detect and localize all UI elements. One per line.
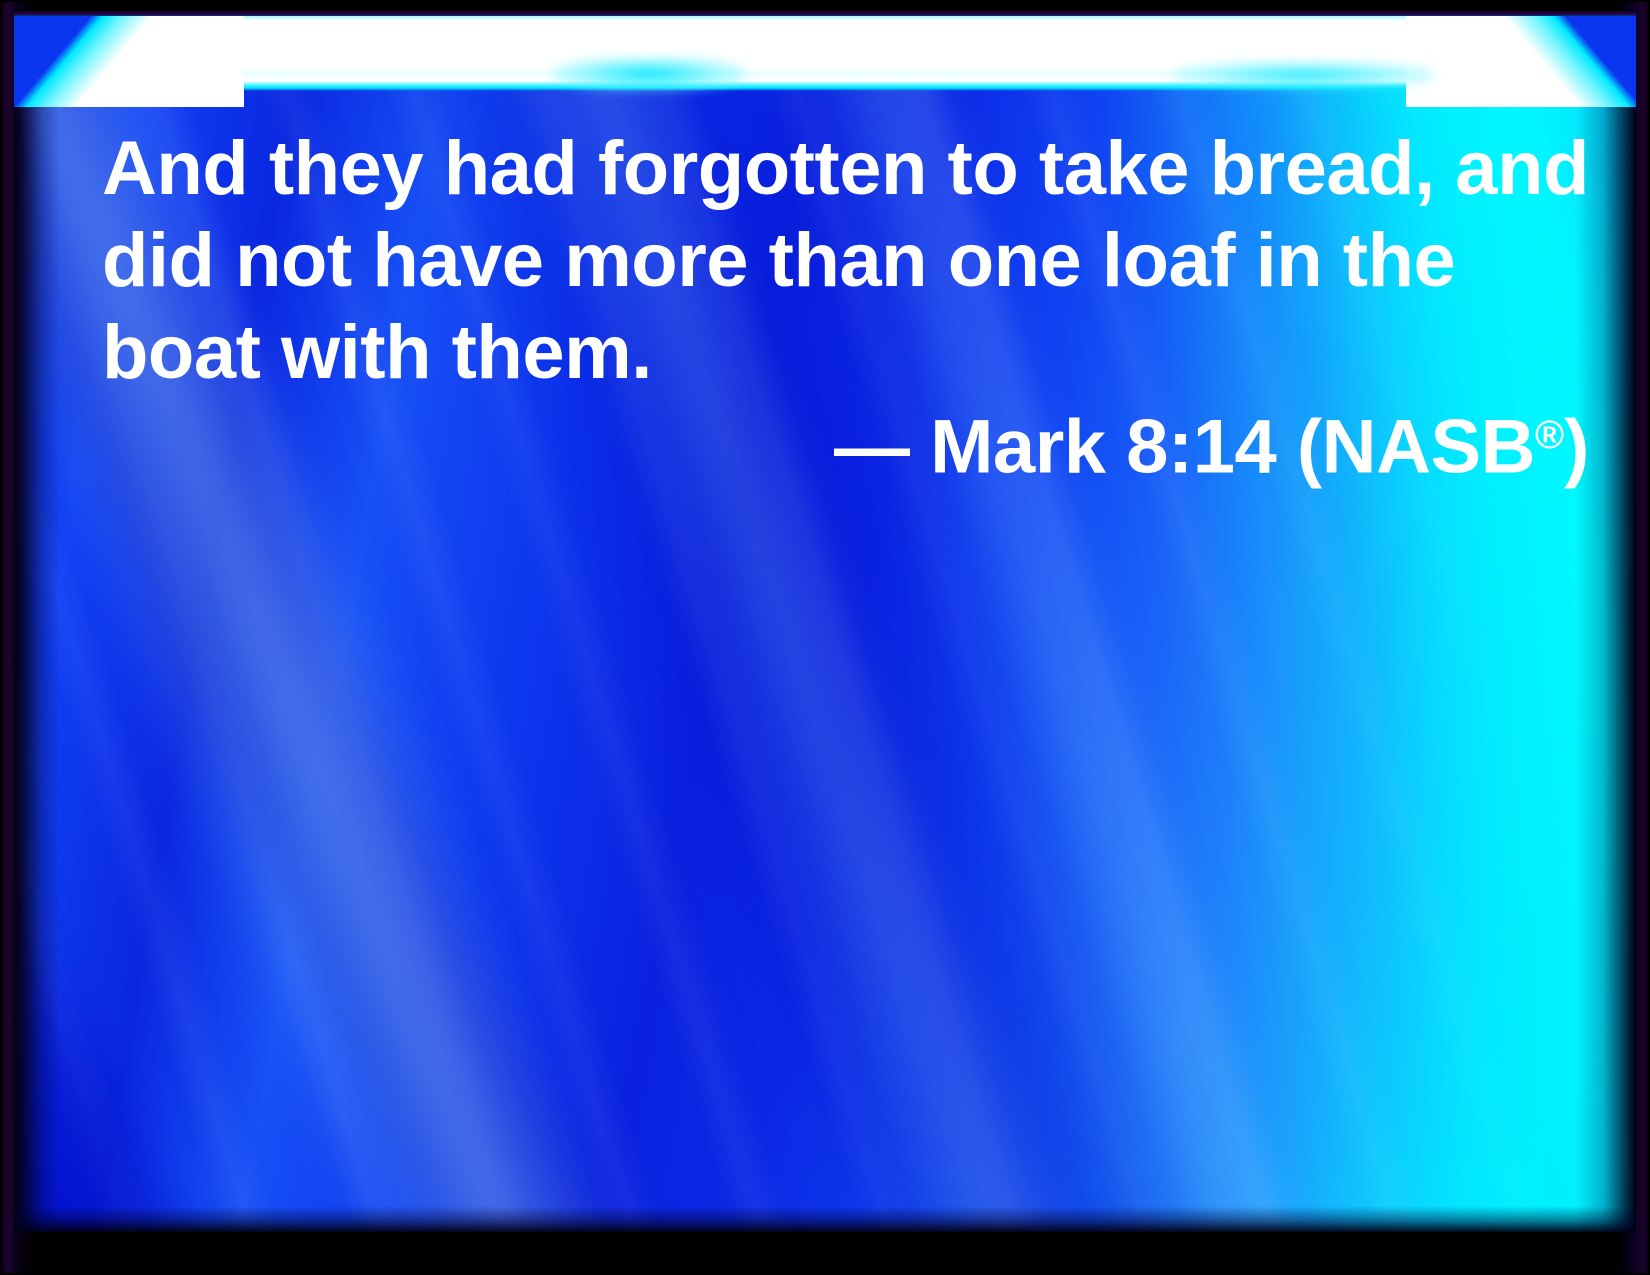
top-banner-fill [14,11,1636,107]
verse-line-2: did not have more than one loaf in the [102,215,1522,307]
verse-line-1: And they had forgotten to take bread, an… [102,123,1522,215]
slide-canvas: And they had forgotten to take bread, an… [14,11,1636,1232]
attribution-reference: Mark 8:14 (NASB [910,405,1536,490]
top-banner-cyan-blob-left [554,57,744,91]
top-banner-left-wedge [14,11,244,107]
top-banner-cyan-blob-right [1174,61,1434,89]
attribution-dash: — [834,405,910,490]
top-banner-right-wedge [1406,11,1636,107]
verse-line-3: boat with them. [102,307,1522,399]
verse-slide: And they had forgotten to take bread, an… [0,0,1650,1275]
bottom-edge-shadow [14,1206,1636,1232]
attribution-closing-paren: ) [1564,405,1589,490]
top-banner-edge-line [14,11,1636,16]
verse-text-block: And they had forgotten to take bread, an… [102,123,1522,399]
top-banner [14,11,1636,107]
registered-trademark-icon: ® [1535,413,1564,457]
verse-attribution: — Mark 8:14 (NASB®) [834,389,1589,494]
left-edge-shadow [14,11,60,1232]
